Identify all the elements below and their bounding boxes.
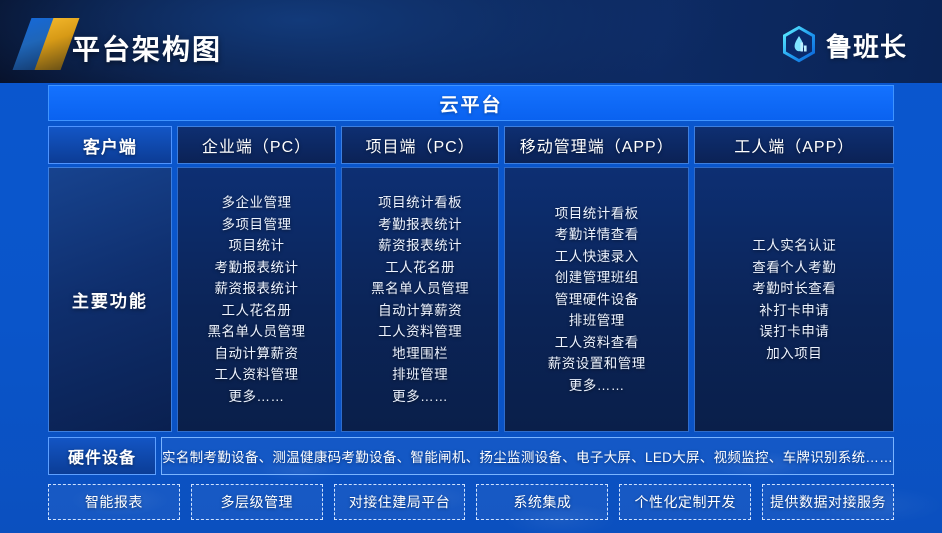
function-item[interactable]: 自动计算薪资	[215, 343, 299, 365]
brand-name: 鲁班长	[826, 27, 907, 64]
main-functions-label: 主要功能	[48, 167, 172, 432]
function-item[interactable]: 薪资设置和管理	[548, 353, 646, 375]
function-item[interactable]: 排班管理	[392, 364, 448, 386]
function-item[interactable]: 补打卡申请	[759, 300, 829, 322]
service-chip[interactable]: 个性化定制开发	[619, 484, 751, 520]
function-list-mobile-app: 项目统计看板考勤详情查看工人快速录入创建管理班组管理硬件设备排班管理工人资料查看…	[504, 167, 690, 432]
architecture-diagram-page: 平台架构图 鲁班长 云平台 客户端 企业端（PC） 项目端（PC） 移动管理端（…	[0, 0, 942, 533]
function-list-enterprise-pc: 多企业管理多项目管理项目统计考勤报表统计薪资报表统计工人花名册黑名单人员管理自动…	[177, 167, 337, 432]
function-item[interactable]: 工人花名册	[222, 300, 292, 322]
function-item[interactable]: 自动计算薪资	[378, 300, 462, 322]
function-item[interactable]: 加入项目	[766, 343, 822, 365]
header-cell-project-pc[interactable]: 项目端（PC）	[341, 126, 499, 164]
function-item[interactable]: 工人花名册	[385, 257, 455, 279]
service-chip[interactable]: 提供数据对接服务	[762, 484, 894, 520]
function-item[interactable]: 黑名单人员管理	[208, 321, 306, 343]
function-item[interactable]: 多项目管理	[222, 214, 292, 236]
service-chip[interactable]: 系统集成	[476, 484, 608, 520]
brand-logo: 鲁班长	[781, 26, 907, 64]
hexagon-building-logo-icon	[781, 26, 817, 64]
function-item[interactable]: 项目统计	[229, 235, 285, 257]
client-type-header-row: 客户端 企业端（PC） 项目端（PC） 移动管理端（APP） 工人端（APP）	[48, 126, 894, 164]
function-item[interactable]: 考勤详情查看	[555, 224, 639, 246]
double-slash-decoration-icon	[18, 18, 80, 70]
service-chip[interactable]: 多层级管理	[191, 484, 323, 520]
main-functions-row: 主要功能 多企业管理多项目管理项目统计考勤报表统计薪资报表统计工人花名册黑名单人…	[48, 167, 894, 432]
function-item[interactable]: 工人实名认证	[752, 235, 836, 257]
function-item[interactable]: 考勤报表统计	[215, 257, 299, 279]
function-item[interactable]: 工人快速录入	[555, 246, 639, 268]
function-item[interactable]: 排班管理	[569, 310, 625, 332]
function-list-project-pc: 项目统计看板考勤报表统计薪资报表统计工人花名册黑名单人员管理自动计算薪资工人资料…	[341, 167, 499, 432]
header-cell-client[interactable]: 客户端	[48, 126, 172, 164]
function-item[interactable]: 更多……	[229, 386, 285, 408]
function-item[interactable]: 考勤时长查看	[752, 278, 836, 300]
service-chip[interactable]: 智能报表	[48, 484, 180, 520]
header-cell-mobile-app[interactable]: 移动管理端（APP）	[504, 126, 690, 164]
function-list-worker-app: 工人实名认证查看个人考勤考勤时长查看补打卡申请误打卡申请加入项目	[694, 167, 894, 432]
function-item[interactable]: 工人资料管理	[215, 364, 299, 386]
function-item[interactable]: 多企业管理	[222, 192, 292, 214]
function-item[interactable]: 创建管理班组	[555, 267, 639, 289]
function-item[interactable]: 查看个人考勤	[752, 257, 836, 279]
function-item[interactable]: 更多……	[392, 386, 448, 408]
hardware-label: 硬件设备	[48, 437, 156, 475]
function-item[interactable]: 项目统计看板	[555, 203, 639, 225]
function-item[interactable]: 考勤报表统计	[378, 214, 462, 236]
function-item[interactable]: 薪资报表统计	[215, 278, 299, 300]
function-item[interactable]: 工人资料管理	[378, 321, 462, 343]
hardware-device-list: 实名制考勤设备、测温健康码考勤设备、智能闸机、扬尘监测设备、电子大屏、LED大屏…	[161, 437, 894, 475]
function-item[interactable]: 更多……	[569, 375, 625, 397]
function-item[interactable]: 地理围栏	[392, 343, 448, 365]
function-item[interactable]: 工人资料查看	[555, 332, 639, 354]
service-chip-row: 智能报表多层级管理对接住建局平台系统集成个性化定制开发提供数据对接服务	[48, 484, 894, 520]
function-item[interactable]: 误打卡申请	[759, 321, 829, 343]
function-item[interactable]: 项目统计看板	[378, 192, 462, 214]
hardware-devices-row: 硬件设备 实名制考勤设备、测温健康码考勤设备、智能闸机、扬尘监测设备、电子大屏、…	[48, 437, 894, 475]
page-title: 平台架构图	[72, 28, 222, 68]
header-cell-enterprise-pc[interactable]: 企业端（PC）	[177, 126, 337, 164]
service-chip[interactable]: 对接住建局平台	[334, 484, 466, 520]
cloud-platform-banner: 云平台	[48, 85, 894, 121]
function-item[interactable]: 黑名单人员管理	[371, 278, 469, 300]
function-item[interactable]: 薪资报表统计	[378, 235, 462, 257]
function-item[interactable]: 管理硬件设备	[555, 289, 639, 311]
header-cell-worker-app[interactable]: 工人端（APP）	[694, 126, 894, 164]
